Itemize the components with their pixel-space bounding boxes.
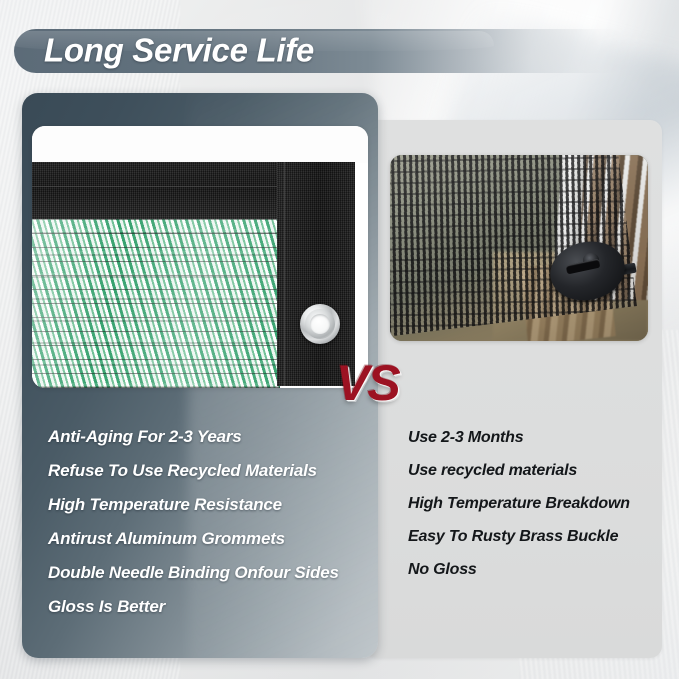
our-feature-list: Anti-Aging For 2-3 Years Refuse To Use R…: [48, 428, 366, 632]
our-product-photo: [32, 126, 368, 388]
mesh-gloss-highlight: [32, 218, 280, 388]
competitor-feature-list: Use 2-3 Months Use recycled materials Hi…: [408, 430, 658, 595]
list-item: Anti-Aging For 2-3 Years: [48, 428, 366, 445]
list-item: Gloss Is Better: [48, 598, 366, 615]
grommet-hole: [310, 314, 330, 334]
infographic-root: Long Service Life: [0, 0, 679, 679]
buckle-body: [545, 235, 630, 307]
photo-white-margin: [32, 126, 368, 163]
competitor-product-photo: [390, 155, 648, 341]
plastic-buckle-icon: [550, 242, 625, 300]
list-item: Antirust Aluminum Grommets: [48, 530, 366, 547]
list-item: Double Needle Binding Onfour Sides: [48, 564, 366, 581]
list-item: Use recycled materials: [408, 463, 658, 479]
list-item: No Gloss: [408, 562, 658, 578]
list-item: Easy To Rusty Brass Buckle: [408, 529, 658, 545]
title-banner: Long Service Life: [14, 29, 630, 73]
list-item: High Temperature Resistance: [48, 496, 366, 513]
black-binding-tape-right: [277, 162, 355, 386]
versus-badge: VS: [336, 358, 399, 408]
list-item: Refuse To Use Recycled Materials: [48, 462, 366, 479]
list-item: High Temperature Breakdown: [408, 496, 658, 512]
page-title: Long Service Life: [44, 32, 314, 70]
list-item: Use 2-3 Months: [408, 430, 658, 446]
green-shade-cloth-mesh: [32, 218, 280, 388]
binding-tape-stitch-seam-right: [284, 162, 285, 386]
aluminum-grommet-icon: [300, 304, 340, 344]
